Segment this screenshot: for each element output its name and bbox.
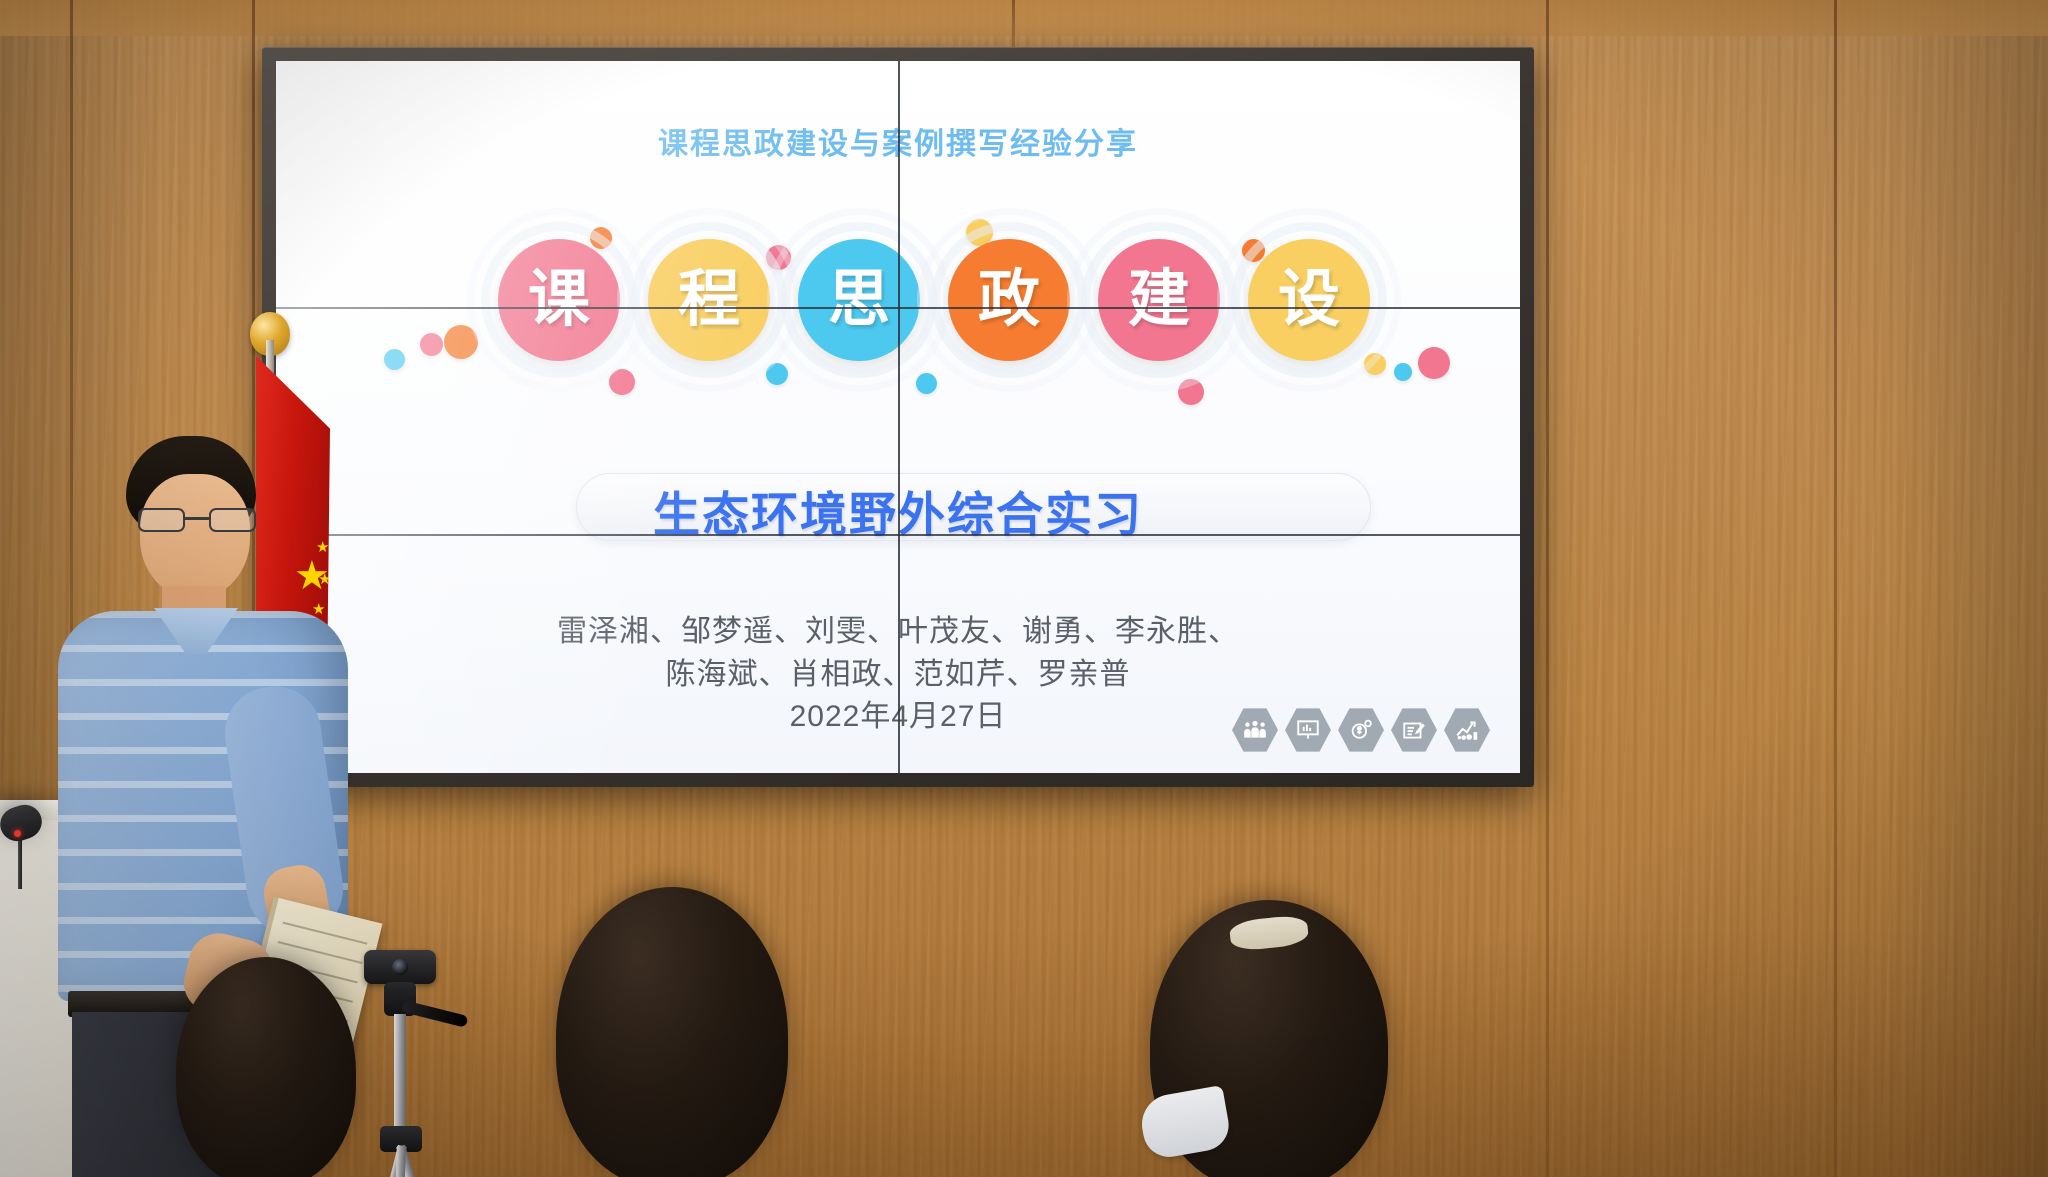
audience-head-center	[556, 887, 788, 1177]
people-group-icon	[1232, 707, 1278, 753]
tripod-pan-handle	[402, 1000, 469, 1028]
growth-chart-icon	[1444, 707, 1490, 753]
wall-panel-seam	[1012, 0, 1015, 48]
panel-seam-horizontal	[276, 307, 1520, 309]
bubble-char-1: 课	[498, 239, 620, 361]
glasses-bridge	[185, 517, 209, 520]
deco-dot-cyan-left	[384, 349, 405, 370]
presentation-chart-icon	[1285, 707, 1331, 753]
deco-dot-pink-right	[1418, 347, 1450, 379]
mic-indicator-light	[14, 830, 21, 837]
bubble-char-2: 程	[648, 239, 770, 361]
audience-head-left	[176, 957, 356, 1177]
deco-dot-pink-left	[420, 333, 443, 356]
panel-seam-vertical	[898, 61, 900, 773]
presentation-screen[interactable]: 课程思政建设与案例撰写经验分享 课 程 思	[276, 61, 1520, 773]
glasses-lens-right	[209, 508, 256, 532]
gooseneck-microphone	[0, 806, 58, 886]
tripod-column	[394, 1014, 406, 1132]
webcam-icon	[364, 950, 436, 984]
panel-seam-horizontal-2	[276, 534, 1520, 536]
glasses-lens-left	[138, 508, 185, 532]
bubble-char-4: 政	[948, 239, 1070, 361]
bubble-char-6: 设	[1248, 239, 1370, 361]
video-wall-display[interactable]: 课程思政建设与案例撰写经验分享 课 程 思	[262, 47, 1534, 787]
gear-person-icon	[1338, 707, 1384, 753]
wall-top-band	[0, 0, 2048, 36]
bubble-char-5: 建	[1098, 239, 1220, 361]
document-pen-icon	[1391, 707, 1437, 753]
conference-room-scene: 课程思政建设与案例撰写经验分享 课 程 思	[0, 0, 2048, 1177]
deco-dot-cyan-right	[1394, 363, 1412, 381]
deco-dot-cyan-mid2	[916, 373, 937, 394]
mic-stem	[18, 834, 22, 889]
bubble-char-3: 思	[798, 239, 920, 361]
presenter-face	[140, 474, 250, 598]
glasses-icon	[138, 508, 256, 534]
footer-icon-row	[1232, 707, 1490, 753]
mic-head	[0, 800, 46, 845]
